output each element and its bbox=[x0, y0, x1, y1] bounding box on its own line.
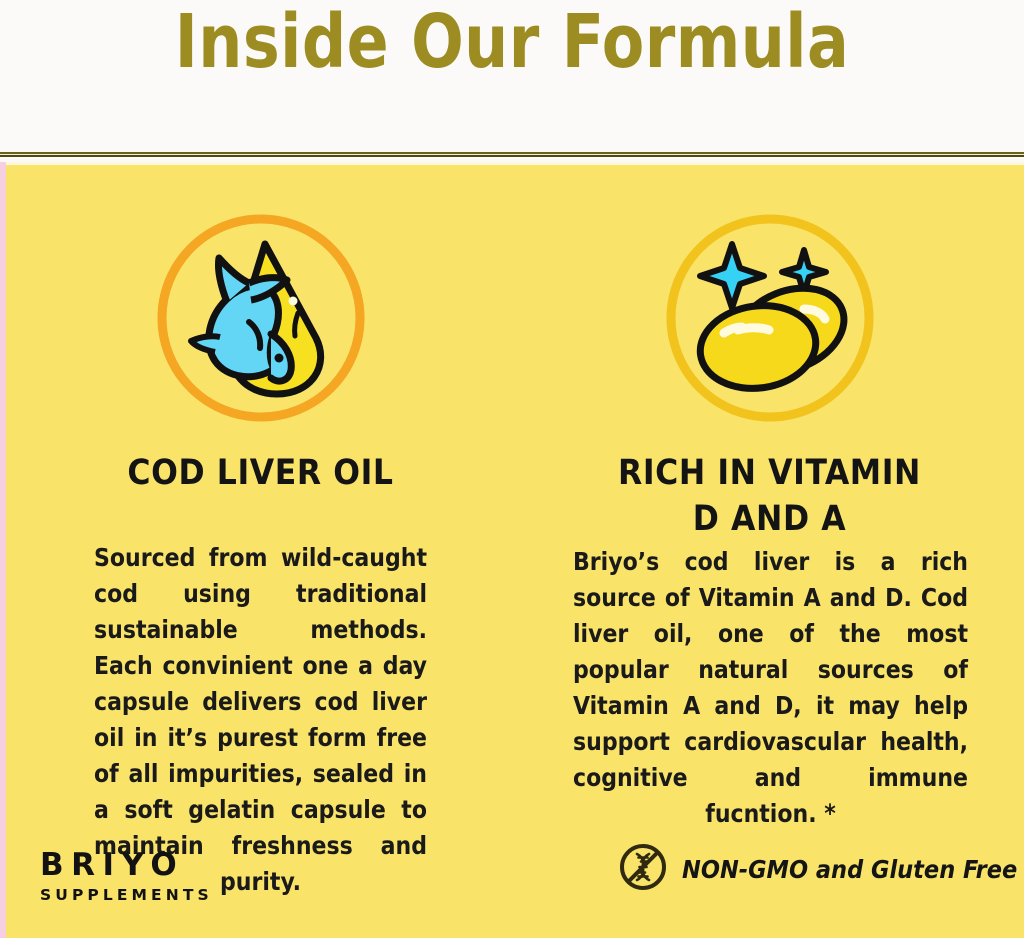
non-gmo-badge: NON-GMO and Gluten Free bbox=[618, 842, 1017, 897]
header-divider bbox=[0, 152, 1024, 158]
content-panel: COD LIVER OIL Sourced from wild-caught c… bbox=[0, 162, 1024, 938]
non-gmo-label: NON-GMO and Gluten Free bbox=[682, 855, 1017, 884]
footer: BRIYO SUPPLEMENTS bbox=[6, 842, 1024, 938]
feature-description: Briyo’s cod liver is a rich source of Vi… bbox=[515, 544, 1024, 832]
brand-logo: BRIYO SUPPLEMENTS bbox=[40, 848, 213, 905]
page-title: Inside Our Formula bbox=[36, 0, 988, 88]
vitamin-softgel-capsules-sparkle-icon bbox=[662, 210, 878, 426]
feature-columns: COD LIVER OIL Sourced from wild-caught c… bbox=[6, 162, 1024, 842]
brand-name: BRIYO bbox=[40, 848, 213, 882]
cod-liver-oil-droplet-fish-icon bbox=[153, 210, 369, 426]
feature-title: RICH IN VITAMIN D AND A bbox=[515, 450, 1024, 542]
feature-rich-in-vitamin-d-and-a: RICH IN VITAMIN D AND A Briyo’s cod live… bbox=[515, 162, 1024, 842]
brand-tagline: SUPPLEMENTS bbox=[40, 885, 213, 905]
header: Inside Our Formula bbox=[0, 0, 1024, 152]
no-gmo-dna-icon bbox=[618, 842, 668, 897]
feature-title: COD LIVER OIL bbox=[6, 450, 515, 496]
feature-cod-liver-oil: COD LIVER OIL Sourced from wild-caught c… bbox=[6, 162, 515, 842]
product-infographic: Inside Our Formula bbox=[0, 0, 1024, 938]
